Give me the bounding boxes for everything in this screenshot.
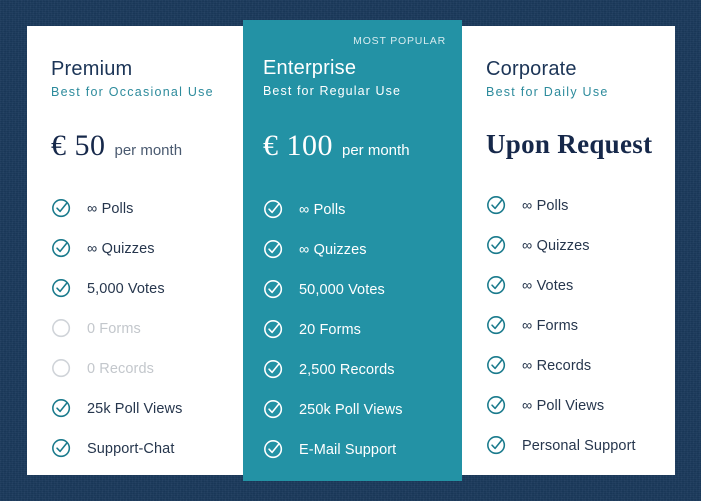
check-circle-icon	[486, 195, 508, 217]
pricing-card-enterprise[interactable]: MOST POPULAR Enterprise Best for Regular…	[243, 20, 462, 481]
plan-tagline: Best for Daily Use	[486, 85, 675, 99]
plan-name: Corporate	[486, 26, 675, 81]
feature-label: ∞ Votes	[522, 278, 573, 294]
price-row: € 100 per month	[263, 129, 462, 163]
feature-item: ∞ Quizzes	[263, 230, 462, 270]
feature-label: ∞ Quizzes	[522, 238, 590, 254]
card-content: MOST POPULAR Enterprise Best for Regular…	[243, 20, 462, 481]
feature-item: 0 Records	[51, 349, 243, 389]
feature-item: ∞ Records	[486, 346, 675, 386]
feature-item: 50,000 Votes	[263, 270, 462, 310]
check-circle-icon	[263, 319, 285, 341]
feature-item: ∞ Quizzes	[486, 226, 675, 266]
check-circle-icon	[486, 435, 508, 457]
feature-label: ∞ Polls	[299, 202, 346, 218]
feature-label: 20 Forms	[299, 322, 361, 338]
card-content: Corporate Best for Daily Use Upon Reques…	[462, 26, 675, 475]
price-amount: € 50	[51, 129, 106, 163]
feature-item: 250k Poll Views	[263, 390, 462, 430]
feature-item: ∞ Forms	[486, 306, 675, 346]
feature-item: 5,000 Votes	[51, 269, 243, 309]
empty-circle-icon	[51, 318, 73, 340]
feature-label: E-Mail Support	[299, 442, 396, 458]
feature-label: 250k Poll Views	[299, 402, 403, 418]
feature-label: ∞ Forms	[522, 318, 578, 334]
most-popular-badge: MOST POPULAR	[353, 35, 446, 47]
feature-label: Personal Support	[522, 438, 636, 454]
feature-label: 25k Poll Views	[87, 401, 182, 417]
feature-label: 50,000 Votes	[299, 282, 385, 298]
check-circle-icon	[486, 235, 508, 257]
plan-name: Premium	[51, 26, 243, 81]
feature-item: 25k Poll Views	[51, 389, 243, 429]
feature-label: ∞ Poll Views	[522, 398, 604, 414]
feature-label: 0 Forms	[87, 321, 141, 337]
feature-item: ∞ Polls	[51, 189, 243, 229]
price-row: € 50 per month	[51, 129, 243, 163]
feature-label: ∞ Polls	[522, 198, 569, 214]
feature-item: Personal Support	[486, 426, 675, 466]
feature-list: ∞ Polls∞ Quizzes50,000 Votes20 Forms2,50…	[263, 190, 462, 470]
check-circle-icon	[486, 395, 508, 417]
check-circle-icon	[263, 439, 285, 461]
plan-name: Enterprise	[263, 20, 462, 80]
feature-item: ∞ Poll Views	[486, 386, 675, 426]
pricing-card-premium[interactable]: Premium Best for Occasional Use € 50 per…	[27, 26, 243, 475]
pricing-page: Premium Best for Occasional Use € 50 per…	[0, 0, 701, 501]
feature-item: ∞ Votes	[486, 266, 675, 306]
plan-tagline: Best for Regular Use	[263, 84, 462, 98]
check-circle-icon	[51, 238, 73, 260]
feature-item: 0 Forms	[51, 309, 243, 349]
feature-item: Support-Chat	[51, 429, 243, 469]
card-content: Premium Best for Occasional Use € 50 per…	[27, 26, 243, 475]
check-circle-icon	[51, 278, 73, 300]
price-custom: Upon Request	[486, 129, 652, 160]
feature-item: ∞ Quizzes	[51, 229, 243, 269]
feature-item: E-Mail Support	[263, 430, 462, 470]
feature-label: ∞ Quizzes	[87, 241, 155, 257]
check-circle-icon	[263, 239, 285, 261]
price-row: Upon Request	[486, 129, 675, 160]
check-circle-icon	[263, 279, 285, 301]
plan-tagline: Best for Occasional Use	[51, 85, 243, 99]
check-circle-icon	[486, 275, 508, 297]
check-circle-icon	[51, 198, 73, 220]
feature-item: ∞ Polls	[486, 186, 675, 226]
check-circle-icon	[486, 315, 508, 337]
feature-item: 2,500 Records	[263, 350, 462, 390]
feature-list: ∞ Polls∞ Quizzes∞ Votes∞ Forms∞ Records∞…	[486, 186, 675, 466]
check-circle-icon	[263, 399, 285, 421]
feature-list: ∞ Polls∞ Quizzes5,000 Votes0 Forms0 Reco…	[51, 189, 243, 469]
check-circle-icon	[51, 438, 73, 460]
feature-label: 2,500 Records	[299, 362, 395, 378]
feature-label: 5,000 Votes	[87, 281, 165, 297]
feature-label: ∞ Quizzes	[299, 242, 367, 258]
check-circle-icon	[51, 398, 73, 420]
check-circle-icon	[263, 359, 285, 381]
feature-label: Support-Chat	[87, 441, 174, 457]
feature-item: ∞ Polls	[263, 190, 462, 230]
price-period: per month	[115, 142, 183, 159]
pricing-card-corporate[interactable]: Corporate Best for Daily Use Upon Reques…	[462, 26, 675, 475]
price-amount: € 100	[263, 129, 333, 163]
feature-item: 20 Forms	[263, 310, 462, 350]
price-period: per month	[342, 142, 410, 159]
feature-label: 0 Records	[87, 361, 154, 377]
check-circle-icon	[486, 355, 508, 377]
check-circle-icon	[263, 199, 285, 221]
feature-label: ∞ Records	[522, 358, 591, 374]
empty-circle-icon	[51, 358, 73, 380]
feature-label: ∞ Polls	[87, 201, 134, 217]
